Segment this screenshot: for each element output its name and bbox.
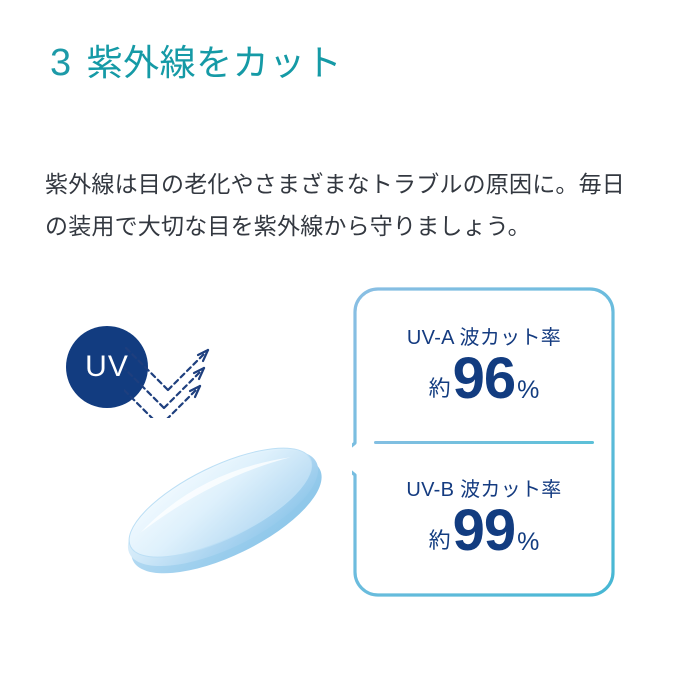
contact-lens-icon bbox=[108, 420, 338, 595]
callout-divider bbox=[374, 441, 594, 444]
stat-approx-uv-a: 約 bbox=[429, 371, 451, 403]
section-number: 3 bbox=[50, 42, 72, 85]
stat-number-uv-a: 96 bbox=[453, 351, 516, 406]
stat-approx-uv-b: 約 bbox=[429, 523, 451, 555]
stat-value-uv-a: 約 96 % bbox=[429, 351, 540, 406]
page-title: 紫外線をカット bbox=[87, 34, 343, 86]
stat-number-uv-b: 99 bbox=[453, 503, 516, 558]
stat-unit-uv-b: % bbox=[517, 528, 539, 557]
uv-cut-rate-callout: UV-A 波カット率 約 96 % UV-B 波カット率 約 99 % bbox=[352, 286, 616, 598]
stat-unit-uv-a: % bbox=[517, 376, 539, 405]
uv-badge-label: UV bbox=[85, 352, 129, 382]
stat-block-uv-a: UV-A 波カット率 約 96 % bbox=[352, 286, 616, 442]
uv-rays-icon bbox=[124, 338, 284, 418]
stat-value-uv-b: 約 99 % bbox=[429, 503, 540, 558]
body-paragraph: 紫外線は目の老化やさまざまなトラブルの原因に。毎日の装用で大切な目を紫外線から守… bbox=[45, 163, 645, 247]
stat-block-uv-b: UV-B 波カット率 約 99 % bbox=[352, 442, 616, 598]
section-heading: 3 紫外線をカット bbox=[50, 34, 342, 86]
